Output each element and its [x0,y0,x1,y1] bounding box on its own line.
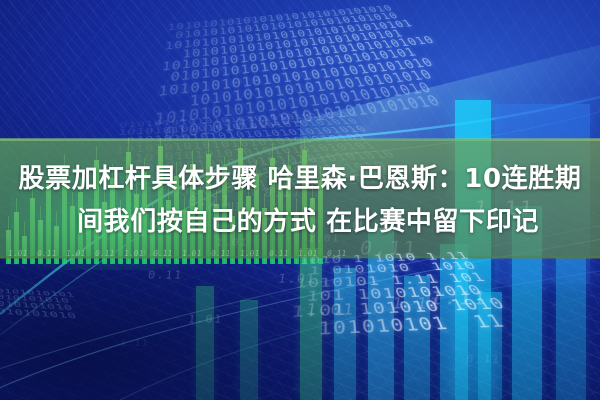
tick-label: 0.11 [36,249,57,258]
headline-line-1: 股票加杠杆具体步骤 哈里森·巴恩斯：10连胜期 [0,158,600,201]
tick-label: 0.11 [152,249,173,258]
tick-label: 1.01 [7,249,28,258]
headline: 股票加杠杆具体步骤 哈里森·巴恩斯：10连胜期 间我们按自己的方式 在比赛中留下… [0,158,600,244]
tick-label: 0.11 [268,249,289,258]
banner-image: 1010101010101010101010101010 01010101010… [0,0,600,400]
tick-label: 0.11 [94,249,115,258]
tick-label: 1.01 [239,249,260,258]
band-top-edge [0,138,600,141]
tick-label: 0.11 [326,249,347,258]
tick-label: 1.01 [181,249,202,258]
tick-label: 1.01 [65,249,86,258]
tick-label: 0.11 [210,249,231,258]
headline-line-2: 间我们按自己的方式 在比赛中留下印记 [0,201,600,244]
tick-label: 1.01 [297,249,318,258]
tick-label: 1.01 [123,249,144,258]
